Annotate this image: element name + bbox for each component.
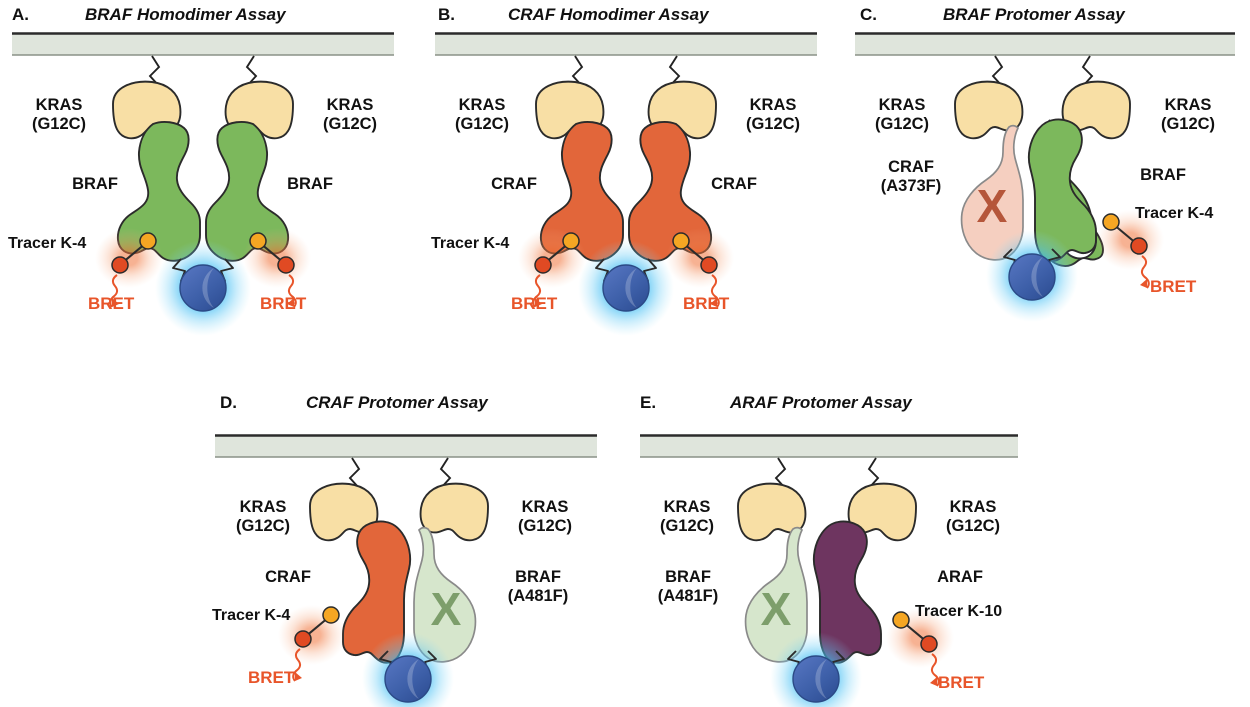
label-kras-left-line2: (G12C): [218, 517, 308, 536]
tracer-left-dye: [323, 607, 339, 623]
tracer-left-dye: [563, 233, 579, 249]
panel-e: E. ARAF Protomer Assay: [620, 385, 1040, 707]
tracer-left-acceptor: [535, 257, 551, 273]
label-protein-left: CRAF: [248, 568, 328, 586]
label-kras-right-line1: KRAS: [728, 96, 818, 115]
label-kras-right-line1: KRAS: [1143, 96, 1233, 115]
label-protein-left-line1: BRAF: [638, 568, 738, 587]
label-kras-right-line1: KRAS: [928, 498, 1018, 517]
bret-arrow-right: [930, 677, 937, 686]
label-tracer-right: Tracer K-4: [1135, 205, 1213, 223]
label-protein-right: BRAF: [275, 175, 345, 193]
panel-d-graphic: X: [200, 385, 620, 707]
panel-b-graphic: [420, 0, 840, 340]
label-kras-right-line1: KRAS: [305, 96, 395, 115]
label-protein-right: ARAF: [920, 568, 1000, 586]
panel-b: B. CRAF Homodimer Assay: [420, 0, 840, 340]
label-kras-left-line2: (G12C): [14, 115, 104, 134]
tracer-right-dye: [893, 612, 909, 628]
label-tracer-left: Tracer K-4: [431, 235, 509, 253]
tracer-right-dye: [250, 233, 266, 249]
label-kras-left-line1: KRAS: [14, 96, 104, 115]
panel-c: C. BRAF Protomer Assay: [840, 0, 1250, 340]
label-kras-right-line2: (G12C): [728, 115, 818, 134]
label-kras-right-line1: KRAS: [500, 498, 590, 517]
label-protein-left: BRAF: [60, 175, 130, 193]
label-bret-left: BRET: [511, 294, 557, 314]
tracer-right-acceptor: [701, 257, 717, 273]
bret-arrow-right: [1140, 279, 1147, 288]
label-protein-left-line2: (A373F): [862, 177, 960, 196]
label-kras-left-line1: KRAS: [857, 96, 947, 115]
blocked-x-marker-right: X: [431, 583, 462, 635]
label-bret-right: BRET: [683, 294, 729, 314]
label-kras-right-line2: (G12C): [500, 517, 590, 536]
panel-d: D. CRAF Protomer Assay: [200, 385, 620, 707]
label-kras-left-line2: (G12C): [642, 517, 732, 536]
label-bret-left: BRET: [88, 294, 134, 314]
membrane-bar: [215, 435, 597, 457]
panel-a-graphic: [0, 0, 420, 340]
label-bret-right: BRET: [260, 294, 306, 314]
label-protein-left: CRAF (A373F): [862, 158, 960, 196]
label-protein-right-line2: (A481F): [488, 587, 588, 606]
tracer-right-acceptor: [1131, 238, 1147, 254]
membrane-bar: [855, 33, 1235, 55]
label-protein-left-line1: CRAF: [862, 158, 960, 177]
blocked-x-marker-left: X: [761, 583, 792, 635]
tracer-left-dye: [140, 233, 156, 249]
label-bret-right: BRET: [1150, 277, 1196, 297]
label-kras-right: KRAS (G12C): [728, 96, 818, 134]
label-protein-right: CRAF: [698, 175, 770, 193]
label-kras-left-line2: (G12C): [857, 115, 947, 134]
label-protein-right: BRAF: [1128, 166, 1198, 184]
label-kras-right-line2: (G12C): [1143, 115, 1233, 134]
label-protein-left: BRAF (A481F): [638, 568, 738, 606]
label-kras-left-line1: KRAS: [218, 498, 308, 517]
label-kras-left-line1: KRAS: [437, 96, 527, 115]
label-kras-right: KRAS (G12C): [500, 498, 590, 536]
label-kras-left: KRAS (G12C): [218, 498, 308, 536]
label-kras-left: KRAS (G12C): [437, 96, 527, 134]
bret-arrow-left: [295, 672, 302, 681]
label-bret-right: BRET: [938, 673, 984, 693]
label-tracer-right: Tracer K-10: [915, 603, 1002, 621]
tracer-right-dye: [1103, 214, 1119, 230]
label-protein-right-line1: BRAF: [488, 568, 588, 587]
tracer-right-dye: [673, 233, 689, 249]
label-kras-right: KRAS (G12C): [928, 498, 1018, 536]
blocked-x-marker-left: X: [977, 180, 1008, 232]
label-kras-right: KRAS (G12C): [1143, 96, 1233, 134]
panel-e-graphic: X: [620, 385, 1040, 707]
membrane-bar: [12, 33, 394, 55]
label-kras-left: KRAS (G12C): [857, 96, 947, 134]
panel-a: A. BRAF Homodimer Assay: [0, 0, 420, 340]
label-kras-left-line1: KRAS: [642, 498, 732, 517]
label-tracer-left: Tracer K-4: [212, 607, 290, 625]
label-bret-left: BRET: [248, 668, 294, 688]
label-kras-left-line2: (G12C): [437, 115, 527, 134]
label-kras-left: KRAS (G12C): [14, 96, 104, 134]
label-tracer-left: Tracer K-4: [8, 235, 86, 253]
tracer-left-acceptor: [295, 631, 311, 647]
label-kras-left: KRAS (G12C): [642, 498, 732, 536]
label-protein-right: BRAF (A481F): [488, 568, 588, 606]
label-kras-right: KRAS (G12C): [305, 96, 395, 134]
label-protein-left: CRAF: [478, 175, 550, 193]
label-kras-right-line2: (G12C): [928, 517, 1018, 536]
tracer-right-acceptor: [278, 257, 294, 273]
membrane-bar: [640, 435, 1018, 457]
tracer-left-acceptor: [112, 257, 128, 273]
tracer-right-acceptor: [921, 636, 937, 652]
membrane-bar: [435, 33, 817, 55]
label-kras-right-line2: (G12C): [305, 115, 395, 134]
label-protein-left-line2: (A481F): [638, 587, 738, 606]
